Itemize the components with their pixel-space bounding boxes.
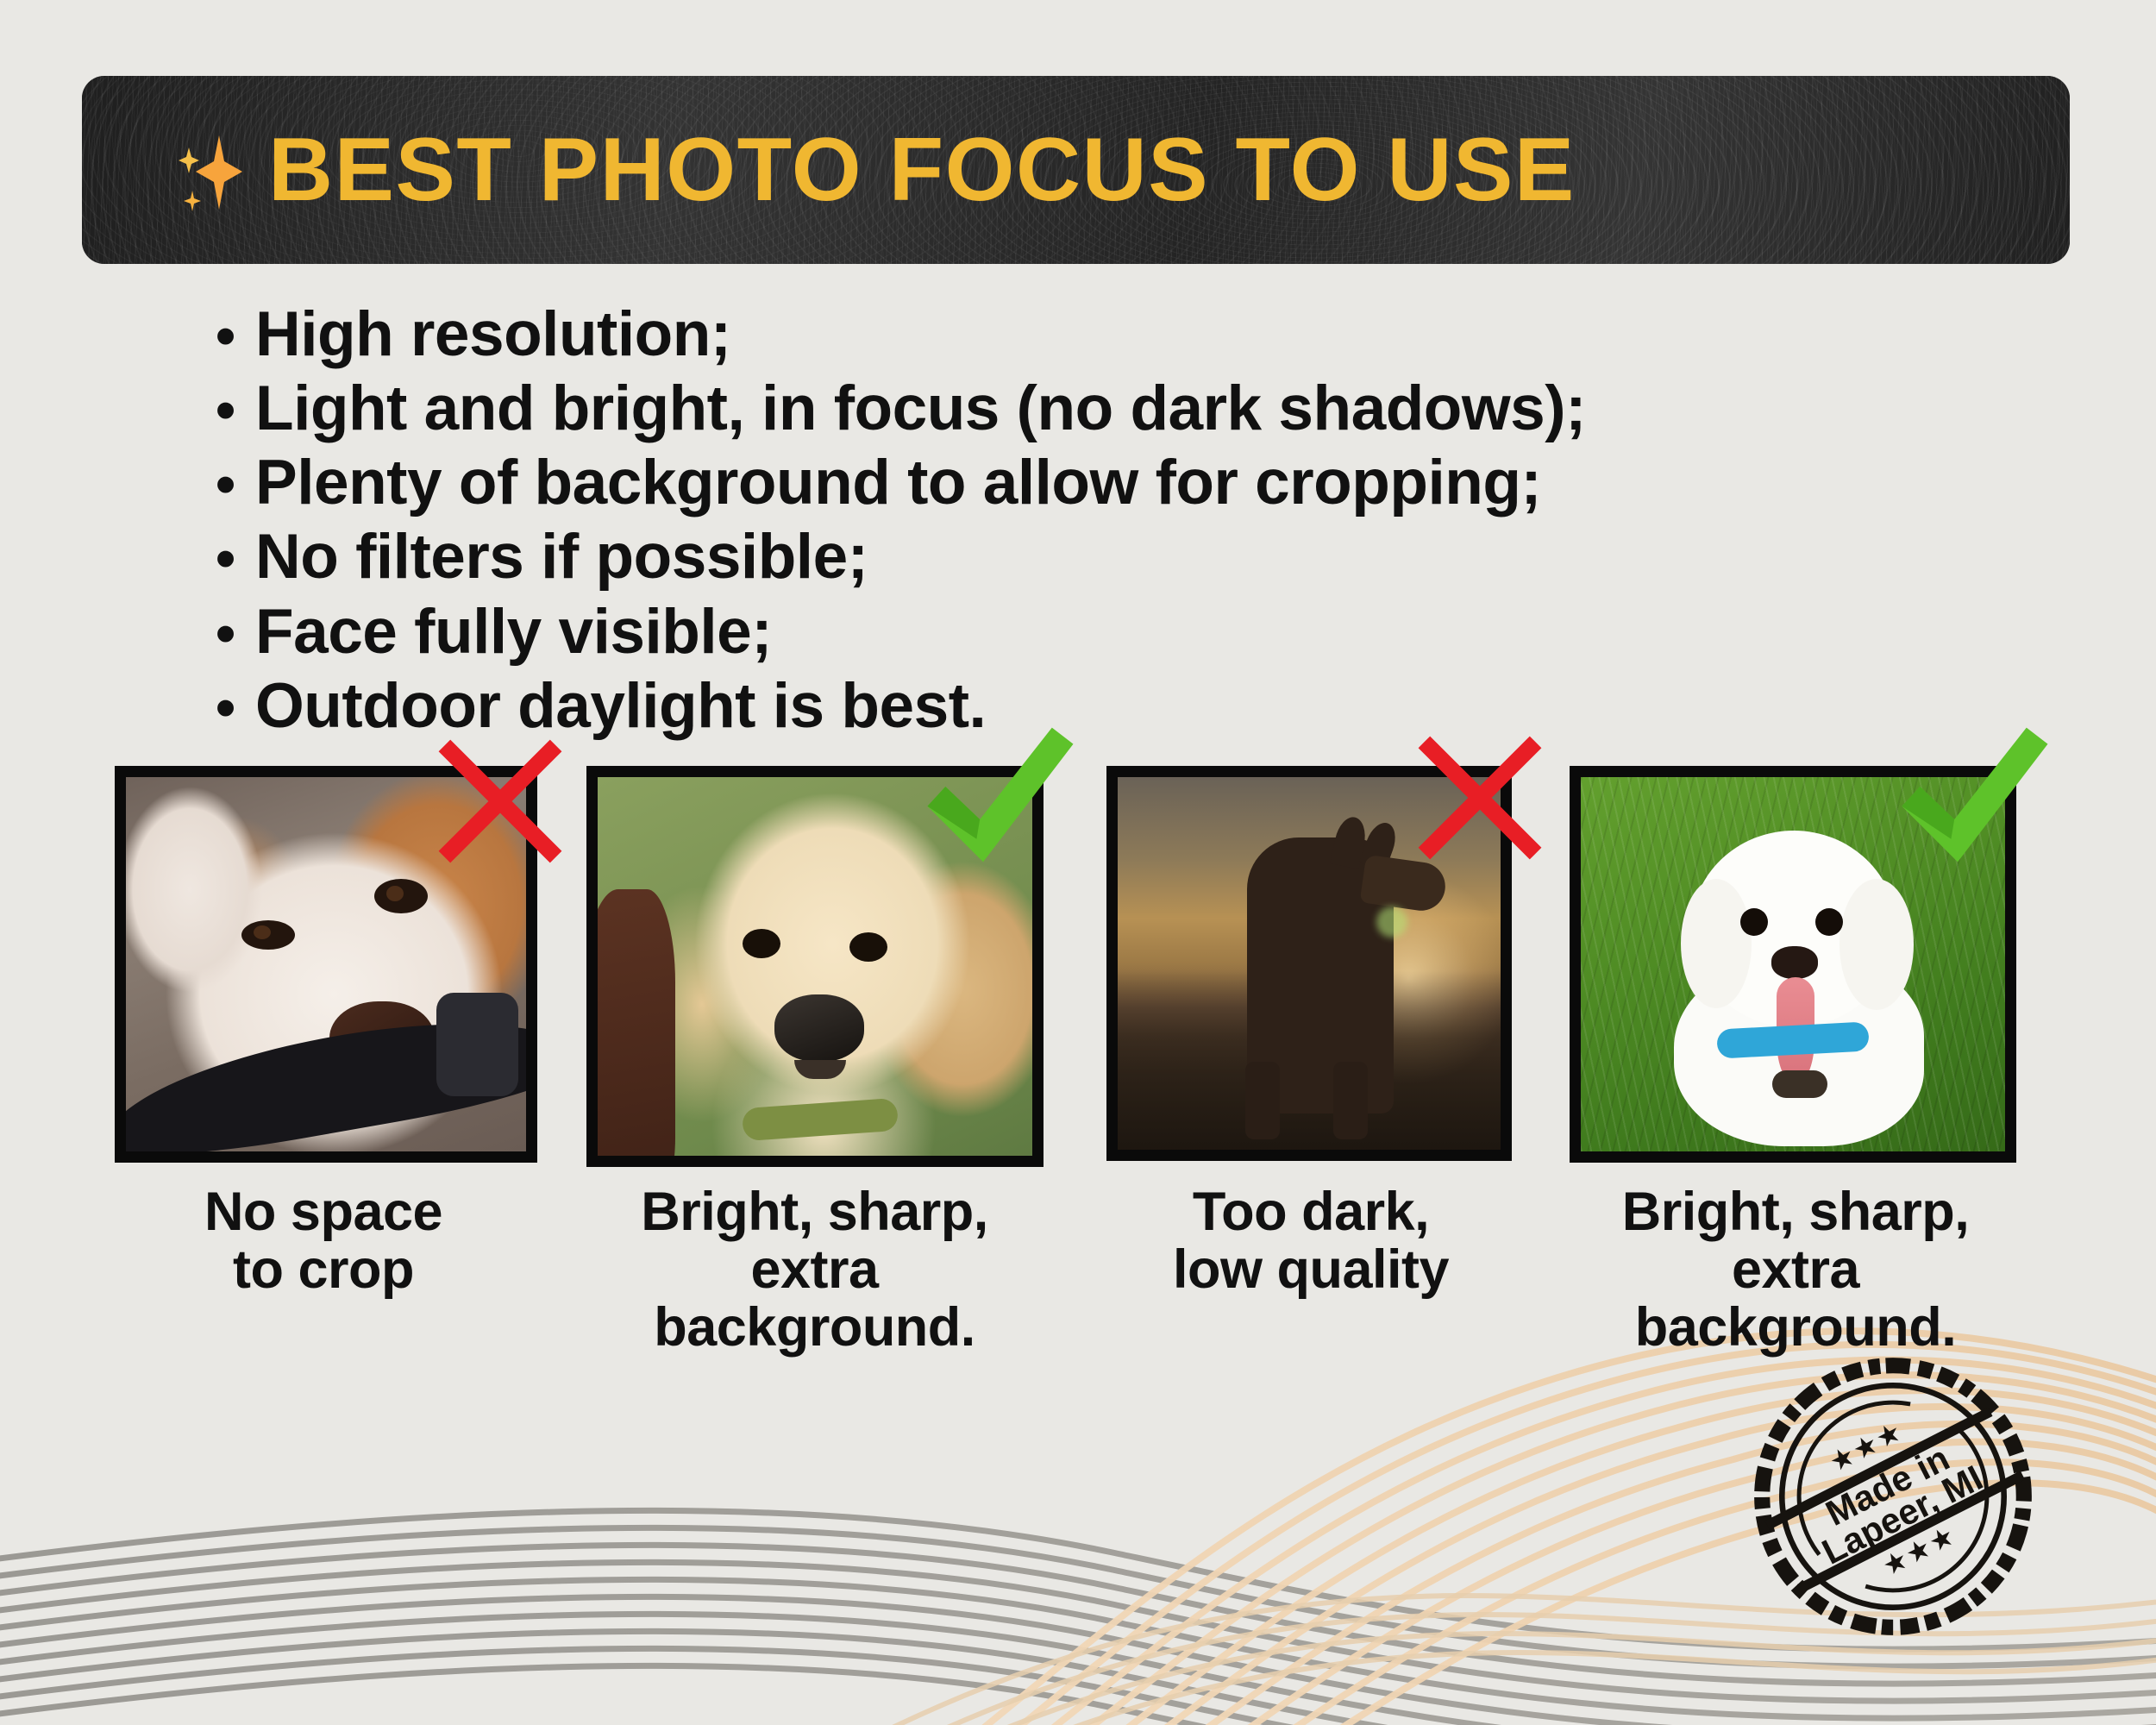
example-photo-3 bbox=[1106, 766, 1512, 1161]
caption-1: No space to crop bbox=[103, 1183, 543, 1299]
bullet-marker-icon: • bbox=[216, 307, 255, 364]
caption-4-line-2: extra bbox=[1563, 1241, 2028, 1299]
caption-3-line-1: Too dark, bbox=[1095, 1183, 1526, 1241]
made-in-stamp: ★★★ Made in Lapeer, MI ★★★ bbox=[1751, 1354, 2035, 1639]
caption-2: Bright, sharp, extra background. bbox=[580, 1183, 1050, 1356]
requirements-list: • High resolution; • Light and bright, i… bbox=[216, 298, 2027, 743]
caption-4-line-1: Bright, sharp, bbox=[1563, 1183, 2028, 1241]
page-title: BEST PHOTO FOCUS TO USE bbox=[268, 125, 1576, 215]
bullet-marker-icon: • bbox=[216, 381, 255, 438]
list-item-label: Outdoor daylight is best. bbox=[255, 669, 2027, 743]
list-item: • Face fully visible; bbox=[216, 595, 2027, 669]
bullet-marker-icon: • bbox=[216, 455, 255, 512]
photo-frame-3 bbox=[1106, 766, 1512, 1161]
list-item-label: Face fully visible; bbox=[255, 595, 2027, 669]
list-item-label: Light and bright, in focus (no dark shad… bbox=[255, 372, 2027, 446]
caption-4: Bright, sharp, extra background. bbox=[1563, 1183, 2028, 1356]
example-photo-row bbox=[0, 749, 2156, 1163]
caption-4-line-3: background. bbox=[1563, 1299, 2028, 1357]
header-banner: BEST PHOTO FOCUS TO USE bbox=[82, 76, 2070, 264]
bullet-marker-icon: • bbox=[216, 679, 255, 736]
photo-image-2 bbox=[598, 777, 1032, 1156]
caption-1-line-1: No space bbox=[103, 1183, 543, 1241]
photo-image-4 bbox=[1581, 777, 2005, 1151]
caption-2-line-2: extra bbox=[580, 1241, 1050, 1299]
example-photo-1 bbox=[115, 766, 537, 1163]
bullet-marker-icon: • bbox=[216, 530, 255, 586]
caption-3: Too dark, low quality bbox=[1095, 1183, 1526, 1299]
bullet-marker-icon: • bbox=[216, 605, 255, 662]
example-captions: No space to crop Bright, sharp, extra ba… bbox=[0, 1180, 2156, 1370]
list-item-label: Plenty of background to allow for croppi… bbox=[255, 446, 2027, 520]
photo-image-3 bbox=[1118, 777, 1501, 1150]
photo-frame-2 bbox=[586, 766, 1044, 1167]
caption-2-line-1: Bright, sharp, bbox=[580, 1183, 1050, 1241]
sparkle-icon bbox=[179, 130, 246, 213]
list-item: • High resolution; bbox=[216, 298, 2027, 372]
list-item: • No filters if possible; bbox=[216, 520, 2027, 594]
caption-1-line-2: to crop bbox=[103, 1241, 543, 1299]
photo-frame-1 bbox=[115, 766, 537, 1163]
caption-2-line-3: background. bbox=[580, 1299, 1050, 1357]
list-item-label: High resolution; bbox=[255, 298, 2027, 372]
list-item-label: No filters if possible; bbox=[255, 520, 2027, 594]
example-photo-4 bbox=[1570, 766, 2016, 1163]
photo-frame-4 bbox=[1570, 766, 2016, 1163]
photo-image-1 bbox=[126, 777, 526, 1151]
example-photo-2 bbox=[586, 766, 1044, 1167]
list-item: • Plenty of background to allow for crop… bbox=[216, 446, 2027, 520]
caption-3-line-2: low quality bbox=[1095, 1241, 1526, 1299]
list-item: • Light and bright, in focus (no dark sh… bbox=[216, 372, 2027, 446]
list-item: • Outdoor daylight is best. bbox=[216, 669, 2027, 743]
